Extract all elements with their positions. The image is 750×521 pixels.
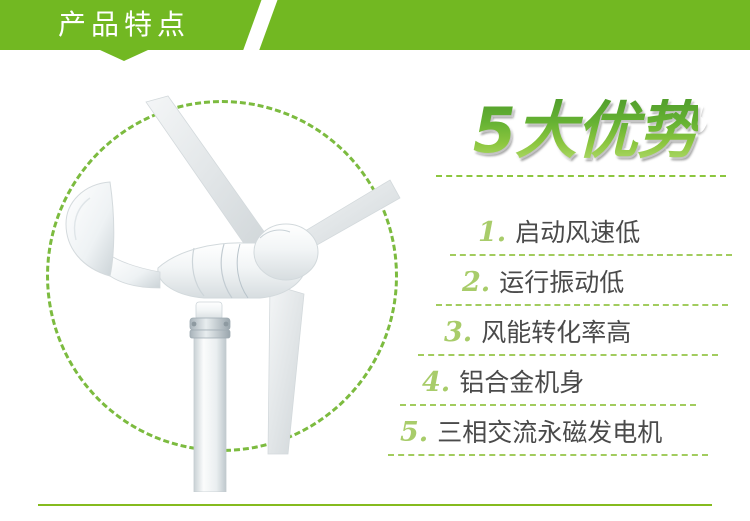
feature-label: 三相交流永磁发电机	[437, 418, 662, 448]
feature-item-3: 3. 风能转化率高	[444, 318, 631, 348]
feature-item-5: 5. 三相交流永磁发电机	[400, 418, 662, 448]
list-item: 5. 三相交流永磁发电机	[400, 406, 740, 456]
banner-slash-decoration	[241, 0, 279, 56]
feature-label: 铝合金机身	[459, 368, 584, 398]
feature-number: 5.	[400, 418, 428, 448]
features-panel: 5大优势 5大优势 1. 启动风速低 2. 运行振动低 3.	[400, 88, 740, 478]
feature-label: 风能转化率高	[481, 318, 631, 348]
list-item: 4. 铝合金机身	[400, 356, 740, 406]
feature-label: 启动风速低	[515, 218, 640, 248]
headline-divider	[436, 175, 726, 177]
page-title: 产品特点	[58, 8, 190, 42]
list-item: 1. 启动风速低	[400, 206, 740, 256]
feature-divider	[388, 454, 708, 456]
footer-divider	[38, 504, 712, 506]
header-banner: 产品特点	[0, 0, 750, 50]
feature-item-1: 1. 启动风速低	[478, 218, 640, 248]
feature-number: 4.	[422, 368, 450, 398]
feature-number: 1.	[478, 218, 506, 248]
feature-label: 运行振动低	[499, 268, 624, 298]
feature-list: 1. 启动风速低 2. 运行振动低 3. 风能转化率高	[400, 206, 740, 456]
product-image-area	[18, 62, 438, 492]
feature-item-4: 4. 铝合金机身	[422, 368, 584, 398]
product-feature-infographic: 产品特点	[0, 0, 750, 521]
list-item: 3. 风能转化率高	[400, 306, 740, 356]
wind-turbine-illustration	[18, 62, 438, 492]
feature-number: 3.	[444, 318, 472, 348]
feature-item-2: 2. 运行振动低	[462, 268, 624, 298]
list-item: 2. 运行振动低	[400, 256, 740, 306]
headline-5-advantages: 5大优势	[473, 96, 698, 166]
banner-notch-arrow	[100, 50, 148, 61]
feature-number: 2.	[462, 268, 490, 298]
